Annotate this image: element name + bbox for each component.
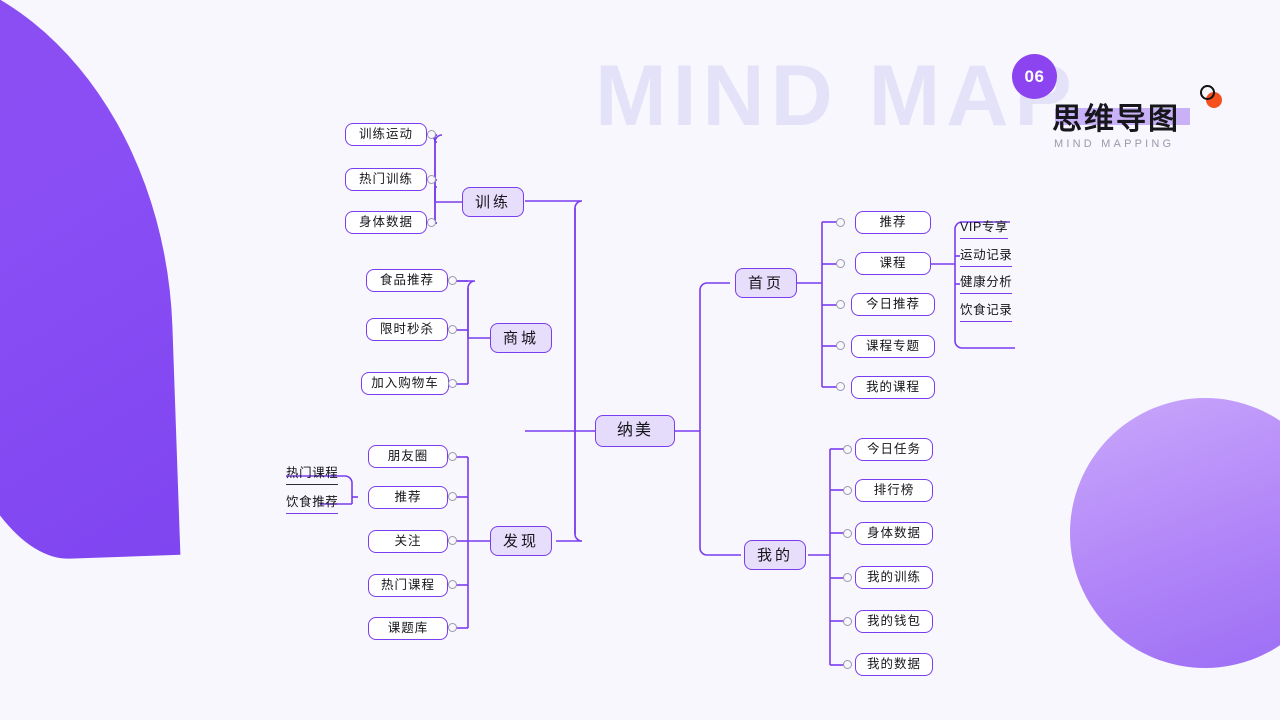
decorative-circle-shape: [1070, 398, 1280, 668]
connector-pin-icon: [843, 529, 852, 538]
connector-pin-icon: [843, 486, 852, 495]
watermark-text: MIND MAP: [595, 47, 1078, 146]
leaf-node[interactable]: 限时秒杀: [366, 318, 448, 341]
leaf-node[interactable]: 朋友圈: [368, 445, 448, 468]
leaf-node[interactable]: 身体数据: [855, 522, 933, 545]
leaf-node[interactable]: 课程专题: [851, 335, 935, 358]
branch-node-training[interactable]: 训练: [462, 187, 524, 217]
leaf-node[interactable]: 课题库: [368, 617, 448, 640]
leaf-node[interactable]: 加入购物车: [361, 372, 449, 395]
mindmap-slide: MIND MAP 06 思维导图 MIND MAPPING: [0, 0, 1280, 720]
leaf-node[interactable]: 推荐: [855, 211, 931, 234]
sub-label[interactable]: 热门课程: [286, 462, 338, 485]
connector-pin-icon: [427, 130, 436, 139]
sub-label[interactable]: 健康分析: [960, 271, 1012, 294]
leaf-node[interactable]: 热门课程: [368, 574, 448, 597]
connector-pin-icon: [843, 660, 852, 669]
sub-label[interactable]: 运动记录: [960, 244, 1012, 267]
branch-node-home[interactable]: 首页: [735, 268, 797, 298]
connector-pin-icon: [448, 623, 457, 632]
branch-node-discover[interactable]: 发现: [490, 526, 552, 556]
page-subtitle: MIND MAPPING: [1054, 138, 1174, 150]
leaf-node[interactable]: 我的训练: [855, 566, 933, 589]
connector-pin-icon: [843, 617, 852, 626]
connector-pin-icon: [448, 379, 457, 388]
decorative-petal-shape: [0, 0, 180, 565]
leaf-node[interactable]: 热门训练: [345, 168, 427, 191]
leaf-node[interactable]: 推荐: [368, 486, 448, 509]
connector-pin-icon: [843, 445, 852, 454]
connector-pin-icon: [448, 276, 457, 285]
leaf-node[interactable]: 身体数据: [345, 211, 427, 234]
branch-node-mine[interactable]: 我的: [744, 540, 806, 570]
connector-pin-icon: [427, 175, 436, 184]
connector-pin-icon: [448, 325, 457, 334]
connector-pin-icon: [427, 218, 436, 227]
leaf-node[interactable]: 排行榜: [855, 479, 933, 502]
dot-decoration-icon: [1199, 85, 1225, 111]
connector-pin-icon: [843, 573, 852, 582]
slide-number-badge: 06: [1012, 54, 1057, 99]
leaf-node[interactable]: 食品推荐: [366, 269, 448, 292]
leaf-node[interactable]: 今日任务: [855, 438, 933, 461]
root-node[interactable]: 纳美: [595, 415, 675, 447]
branch-node-mall[interactable]: 商城: [490, 323, 552, 353]
page-title: 思维导图: [1052, 94, 1180, 138]
connector-pin-icon: [448, 452, 457, 461]
connector-pin-icon: [448, 492, 457, 501]
leaf-node[interactable]: 关注: [368, 530, 448, 553]
leaf-node[interactable]: 我的数据: [855, 653, 933, 676]
leaf-node[interactable]: 今日推荐: [851, 293, 935, 316]
sub-label[interactable]: VIP专享: [960, 216, 1008, 239]
connector-pin-icon: [836, 300, 845, 309]
sub-label[interactable]: 饮食记录: [960, 299, 1012, 322]
sub-label[interactable]: 饮食推荐: [286, 491, 338, 514]
leaf-node[interactable]: 课程: [855, 252, 931, 275]
connector-pin-icon: [836, 259, 845, 268]
leaf-node[interactable]: 我的课程: [851, 376, 935, 399]
connector-pin-icon: [836, 341, 845, 350]
leaf-node[interactable]: 训练运动: [345, 123, 427, 146]
leaf-node[interactable]: 我的钱包: [855, 610, 933, 633]
connector-pin-icon: [448, 536, 457, 545]
connector-pin-icon: [836, 382, 845, 391]
connector-pin-icon: [836, 218, 845, 227]
connector-pin-icon: [448, 580, 457, 589]
